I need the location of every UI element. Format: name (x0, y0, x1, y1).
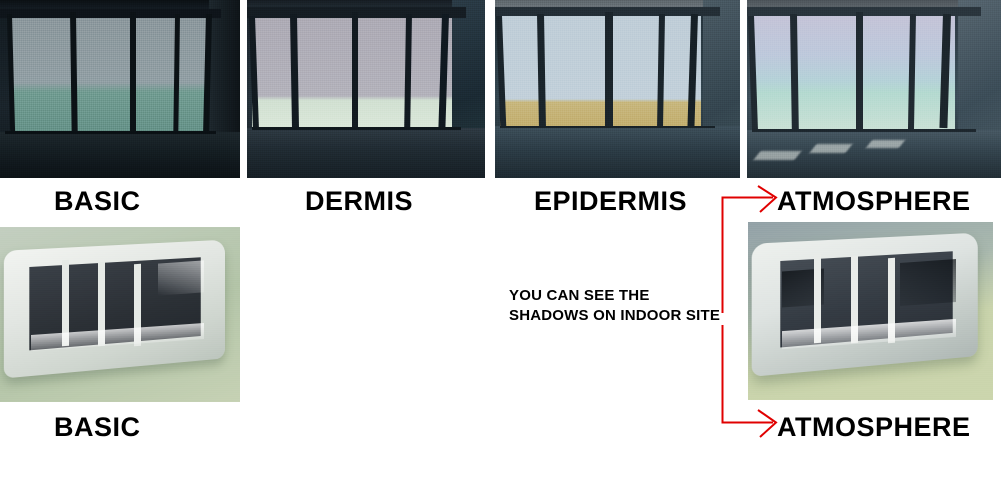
photo-basic-window (0, 0, 240, 178)
annotation-line-1: YOU CAN SEE THE (509, 286, 720, 306)
annotation-line-2: SHADOWS ON INDOOR SITE (509, 306, 720, 326)
caption-atmosphere-vent: ATMOSPHERE (777, 414, 971, 441)
photo-epidermis-window (495, 0, 740, 178)
photo-atmosphere-window (747, 0, 1001, 178)
photo-atmosphere-vent (748, 222, 993, 400)
caption-atmosphere-window: ATMOSPHERE (777, 188, 971, 215)
caption-basic-window: BASIC (54, 188, 141, 215)
caption-epidermis-window: EPIDERMIS (534, 188, 687, 215)
photo-basic-vent (0, 227, 240, 402)
annotation-text: YOU CAN SEE THE SHADOWS ON INDOOR SITE (509, 286, 720, 327)
photo-dermis-window (247, 0, 485, 178)
caption-basic-vent: BASIC (54, 414, 141, 441)
comparison-figure: BASIC DERMIS EPIDERMIS ATMOSPHERE (0, 0, 1001, 480)
caption-dermis-window: DERMIS (305, 188, 413, 215)
